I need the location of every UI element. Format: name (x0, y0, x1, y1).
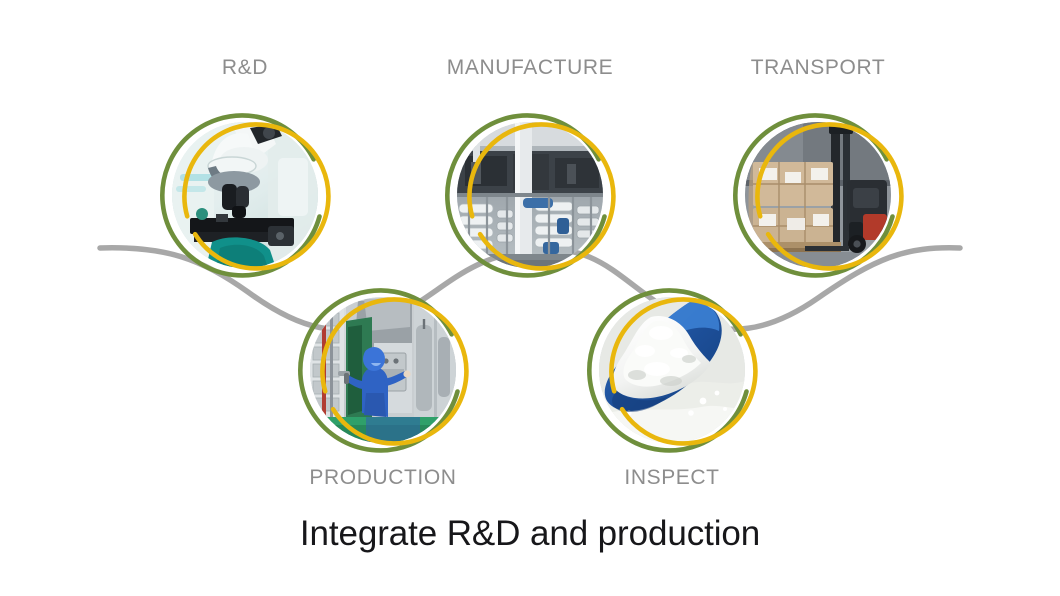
ring-decoration-production (291, 278, 475, 462)
ring-decoration-transport (726, 103, 910, 287)
node-rd[interactable]: R&D (153, 103, 337, 287)
node-label-manufacture: MANUFACTURE (368, 56, 692, 80)
node-manufacture[interactable]: MANUFACTURE (438, 103, 622, 287)
node-production[interactable]: PRODUCTION (291, 278, 475, 462)
infographic-canvas: R&D (0, 0, 1060, 596)
node-label-production: PRODUCTION (221, 466, 545, 490)
node-label-rd: R&D (83, 56, 407, 80)
page-title: Integrate R&D and production (0, 514, 1060, 554)
wave-connector (0, 0, 1060, 596)
node-label-inspect: INSPECT (510, 466, 834, 490)
node-label-transport: TRANSPORT (656, 56, 980, 80)
ring-decoration-rd (153, 103, 337, 287)
ring-decoration-manufacture (438, 103, 622, 287)
node-inspect[interactable]: INSPECT (580, 278, 764, 462)
node-transport[interactable]: TRANSPORT (726, 103, 910, 287)
ring-decoration-inspect (580, 278, 764, 462)
